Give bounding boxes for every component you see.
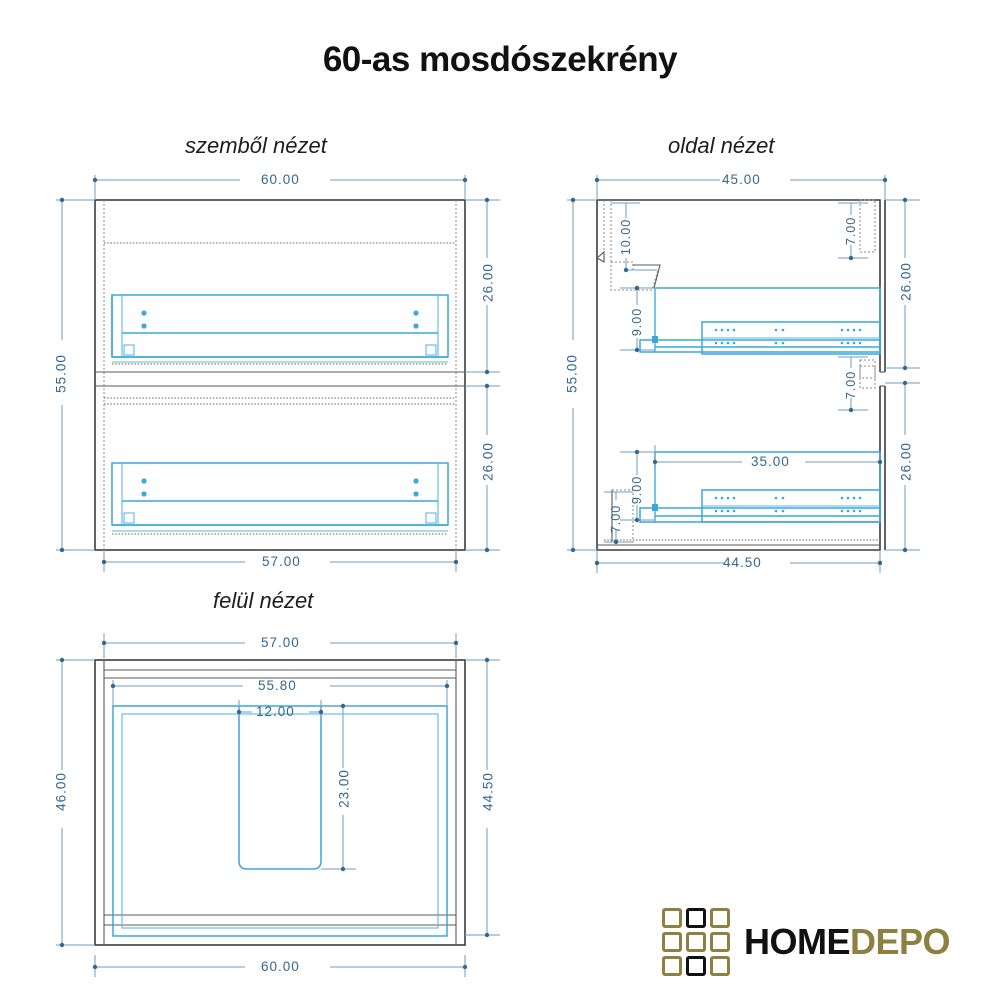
dim-top-cutout-depth-label: 23.00 xyxy=(337,764,352,814)
logo-cell-2 xyxy=(710,908,730,928)
dim-top-depth-outer-label: 46.00 xyxy=(54,767,69,817)
logo-text-depo: DEPO xyxy=(850,921,950,962)
logo-cell-7 xyxy=(686,956,706,976)
logo-cell-6 xyxy=(662,956,682,976)
dim-top-width-outer-label: 60.00 xyxy=(261,959,300,974)
logo-cell-4 xyxy=(686,932,706,952)
top-drawer-outline xyxy=(113,706,447,936)
top-view-drawing xyxy=(0,0,1000,1000)
logo-text-home: HOME xyxy=(744,921,850,962)
dim-top-width-inner-label: 57.00 xyxy=(261,635,300,650)
logo-cell-0 xyxy=(662,908,682,928)
brand-logo: HOMEDEPO xyxy=(662,908,950,976)
logo-wordmark: HOMEDEPO xyxy=(744,924,950,960)
logo-grid-icon xyxy=(662,908,730,976)
logo-cell-5 xyxy=(710,932,730,952)
dim-top-cutout-width-label: 12.00 xyxy=(256,704,295,719)
logo-cell-1 xyxy=(686,908,706,928)
logo-cell-3 xyxy=(662,932,682,952)
logo-cell-8 xyxy=(710,956,730,976)
dim-top-depth-inner-label: 44.50 xyxy=(481,767,496,817)
dim-top-width-drawer-label: 55.80 xyxy=(258,678,297,693)
sink-cutout xyxy=(239,706,321,869)
technical-drawing-sheet: 60-as mosdószekrény szemből nézet oldal … xyxy=(0,0,1000,1000)
